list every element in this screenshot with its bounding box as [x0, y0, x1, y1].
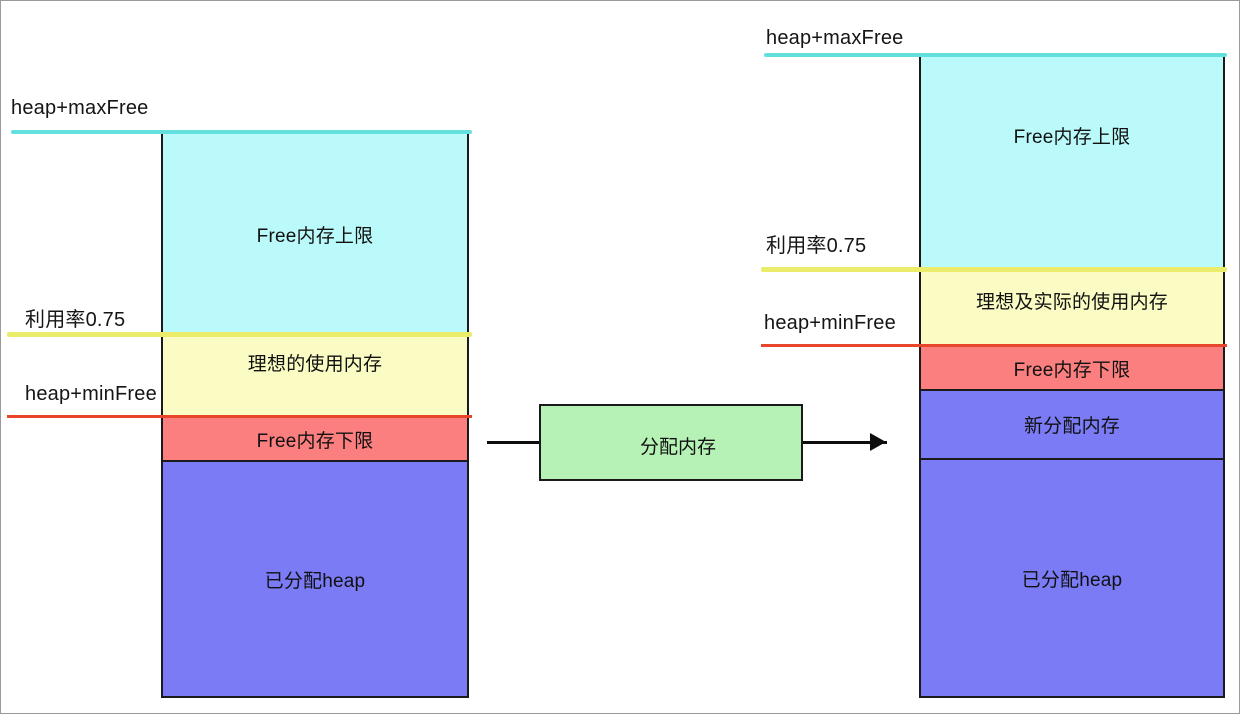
left-band-free-lower: Free内存下限 — [161, 418, 469, 462]
flow-arrow-head — [870, 433, 886, 451]
right-band-free-lower-label: Free内存下限 — [1014, 355, 1131, 382]
right-marker-label-max-free: heap+maxFree — [766, 27, 903, 50]
left-band-allocated-heap-label: 已分配heap — [265, 566, 366, 593]
left-band-ideal-usage-label: 理想的使用内存 — [248, 349, 382, 376]
left-band-ideal-usage: 理想的使用内存 — [161, 337, 469, 416]
diagram-canvas: heap+maxFree Free内存上限 利用率0.75 理想的使用内存 he… — [0, 0, 1240, 714]
right-band-ideal-actual-usage-label: 理想及实际的使用内存 — [976, 287, 1168, 314]
left-band-free-lower-label: Free内存下限 — [257, 426, 374, 453]
left-band-free-upper-label: Free内存上限 — [257, 221, 374, 248]
right-band-free-lower: Free内存下限 — [919, 347, 1225, 391]
left-marker-label-max-free: heap+maxFree — [11, 97, 148, 120]
left-band-allocated-heap: 已分配heap — [161, 462, 469, 698]
right-band-ideal-actual-usage: 理想及实际的使用内存 — [919, 272, 1225, 346]
right-marker-label-utilization: 利用率0.75 — [766, 229, 866, 258]
right-band-newly-allocated: 新分配内存 — [919, 391, 1225, 460]
right-marker-label-min-free: heap+minFree — [764, 312, 896, 335]
right-band-free-upper: Free内存上限 — [919, 57, 1225, 269]
flow-allocate-memory-label: 分配内存 — [640, 432, 716, 459]
right-band-free-upper-label: Free内存上限 — [1014, 122, 1131, 149]
right-band-allocated-heap-label: 已分配heap — [1022, 565, 1123, 592]
right-band-newly-allocated-label: 新分配内存 — [1024, 411, 1120, 438]
right-band-allocated-heap: 已分配heap — [919, 460, 1225, 698]
left-band-free-upper: Free内存上限 — [161, 134, 469, 334]
left-marker-label-min-free: heap+minFree — [25, 383, 157, 406]
left-marker-label-utilization: 利用率0.75 — [25, 303, 125, 332]
